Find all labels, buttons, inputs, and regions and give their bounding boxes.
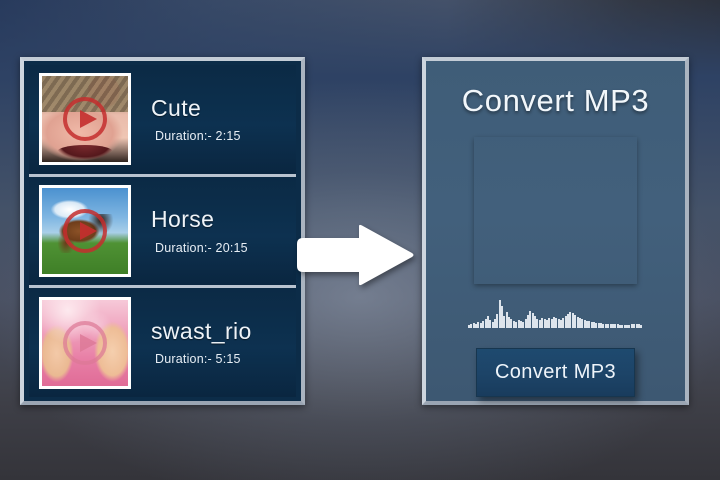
play-icon[interactable] (63, 97, 107, 141)
video-title: swast_rio (151, 319, 252, 344)
video-list: Cute Duration:- 2:15 Horse Duration:- 20… (29, 65, 296, 397)
video-thumbnail[interactable] (39, 185, 131, 277)
page-title: Convert MP3 (462, 83, 650, 119)
video-duration: Duration:- 5:15 (155, 352, 252, 366)
audio-waveform (468, 298, 643, 328)
video-info: Cute Duration:- 2:15 (151, 96, 241, 143)
video-info: Horse Duration:- 20:15 (151, 207, 248, 254)
video-title: Cute (151, 96, 241, 121)
play-icon[interactable] (63, 209, 107, 253)
preview-image (474, 137, 637, 284)
video-thumbnail[interactable] (39, 73, 131, 165)
app-screen: Cute Duration:- 2:15 Horse Duration:- 20… (0, 0, 720, 480)
video-title: Horse (151, 207, 248, 232)
convert-mp3-button[interactable]: Convert MP3 (476, 348, 635, 397)
converter-panel: Convert MP3 Convert MP3 (422, 57, 689, 405)
video-list-panel: Cute Duration:- 2:15 Horse Duration:- 20… (20, 57, 305, 405)
video-info: swast_rio Duration:- 5:15 (151, 319, 252, 366)
video-thumbnail[interactable] (39, 297, 131, 389)
right-arrow-icon (293, 224, 415, 286)
video-duration: Duration:- 2:15 (155, 129, 241, 143)
waveform-bar (640, 325, 642, 328)
play-icon[interactable] (63, 321, 107, 365)
list-item[interactable]: swast_rio Duration:- 5:15 (29, 285, 296, 397)
list-item[interactable]: Horse Duration:- 20:15 (29, 174, 296, 286)
video-duration: Duration:- 20:15 (155, 241, 248, 255)
list-item[interactable]: Cute Duration:- 2:15 (29, 65, 296, 174)
